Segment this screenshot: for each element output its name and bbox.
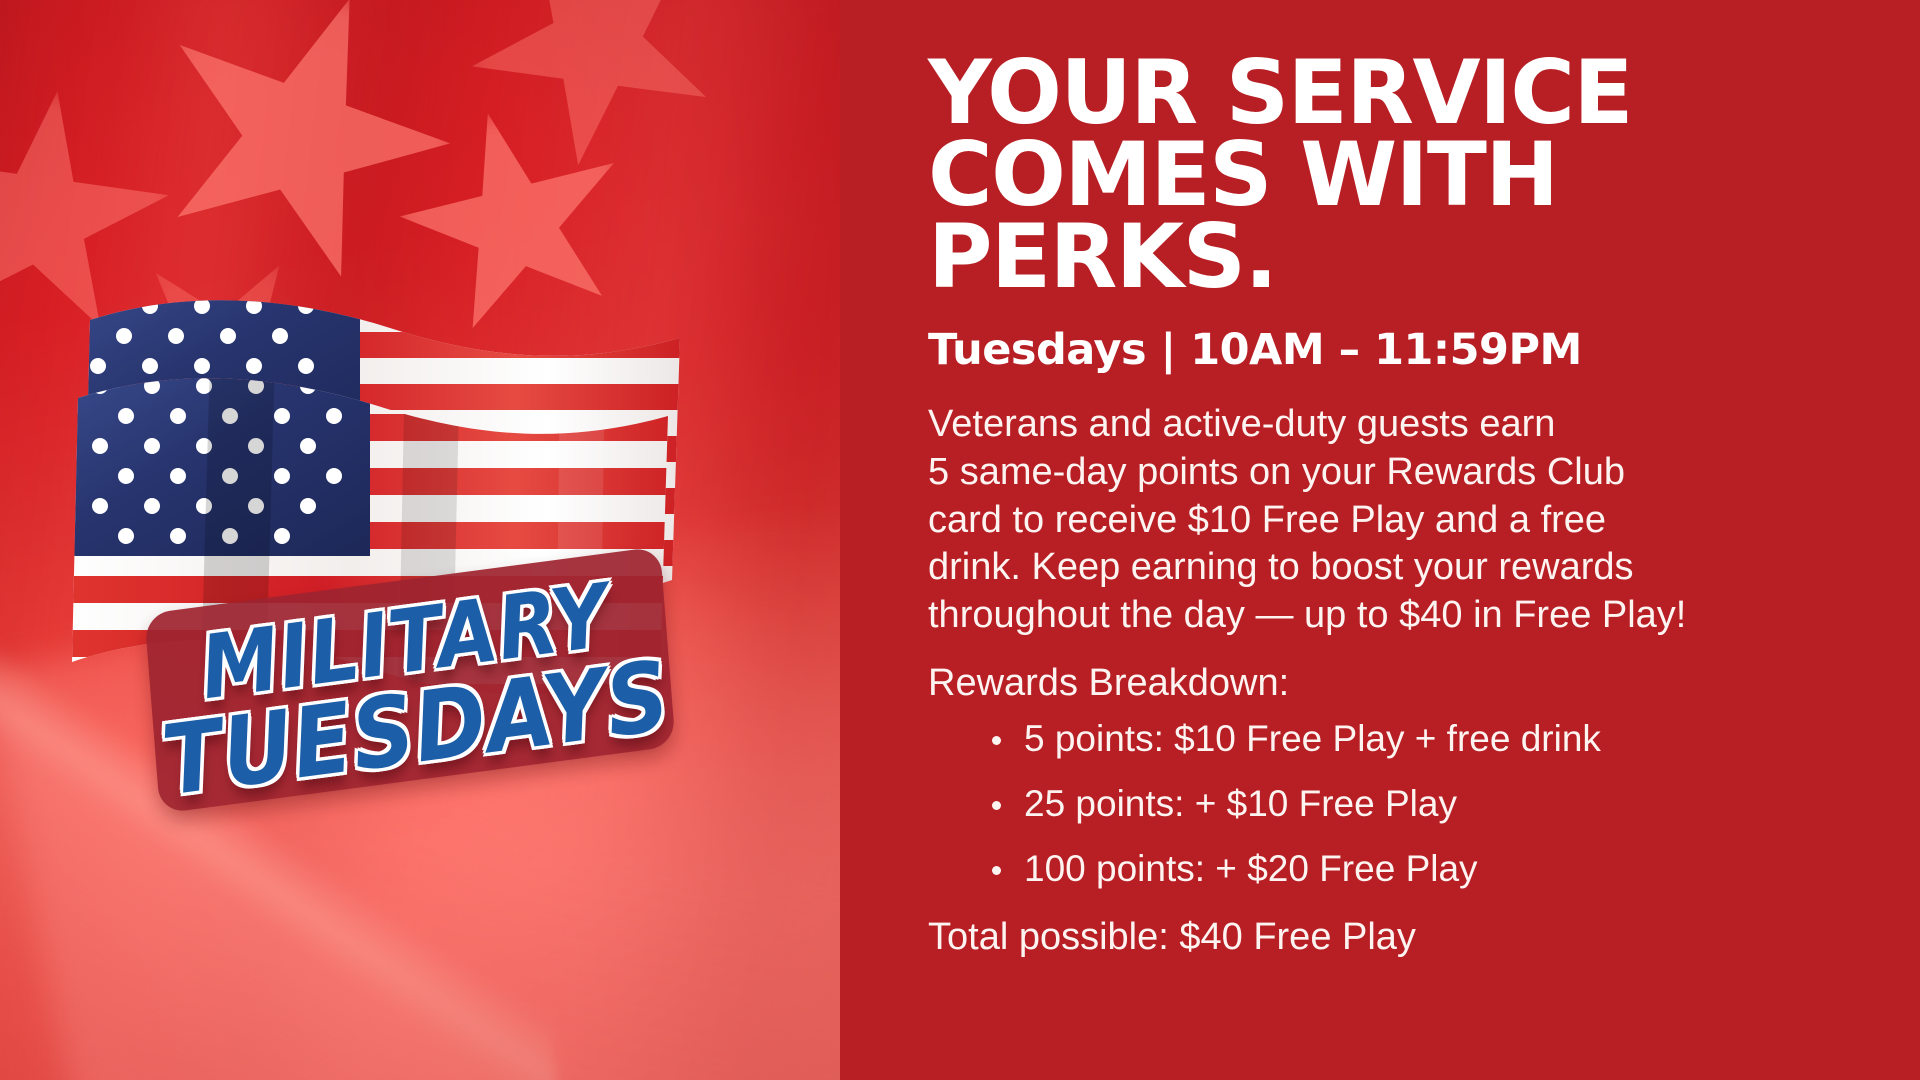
headline-line-3: PERKS.	[928, 216, 1850, 298]
bullet-icon	[992, 866, 1001, 875]
bullet-icon	[992, 801, 1001, 810]
list-item-label: 25 points: + $10 Free Play	[1024, 783, 1457, 824]
list-item: 5 points: $10 Free Play + free drink	[986, 720, 1850, 757]
description-line-1: Veterans and active-duty guests earn	[928, 401, 1850, 449]
rewards-breakdown-list: 5 points: $10 Free Play + free drink 25 …	[928, 720, 1850, 887]
bullet-icon	[992, 736, 1001, 745]
page-title: YOUR SERVICE COMES WITH PERKS.	[928, 52, 1850, 297]
rewards-breakdown-label: Rewards Breakdown:	[928, 660, 1850, 708]
list-item-label: 100 points: + $20 Free Play	[1024, 848, 1478, 889]
promo-banner: MILITARY TUESDAYS YOUR SERVICE COMES WIT…	[0, 0, 1920, 1080]
total-possible-line: Total possible: $40 Free Play	[928, 915, 1850, 961]
description-line-4: drink. Keep earning to boost your reward…	[928, 544, 1850, 592]
description-line-3: card to receive $10 Free Play and a free	[928, 497, 1850, 545]
list-item: 25 points: + $10 Free Play	[986, 785, 1850, 822]
promo-content-panel: YOUR SERVICE COMES WITH PERKS. Tuesdays …	[840, 0, 1920, 1080]
flag-photo-panel: MILITARY TUESDAYS	[0, 0, 840, 1080]
headline-line-2: COMES WITH	[928, 134, 1850, 216]
description-line-5: throughout the day — up to $40 in Free P…	[928, 592, 1850, 640]
list-item: 100 points: + $20 Free Play	[986, 850, 1850, 887]
promo-description: Veterans and active-duty guests earn 5 s…	[928, 401, 1850, 640]
description-line-2: 5 same-day points on your Rewards Club	[928, 449, 1850, 497]
list-item-label: 5 points: $10 Free Play + free drink	[1024, 718, 1601, 759]
headline-line-1: YOUR SERVICE	[928, 52, 1850, 134]
promo-schedule: Tuesdays | 10AM – 11:59PM	[928, 327, 1850, 374]
